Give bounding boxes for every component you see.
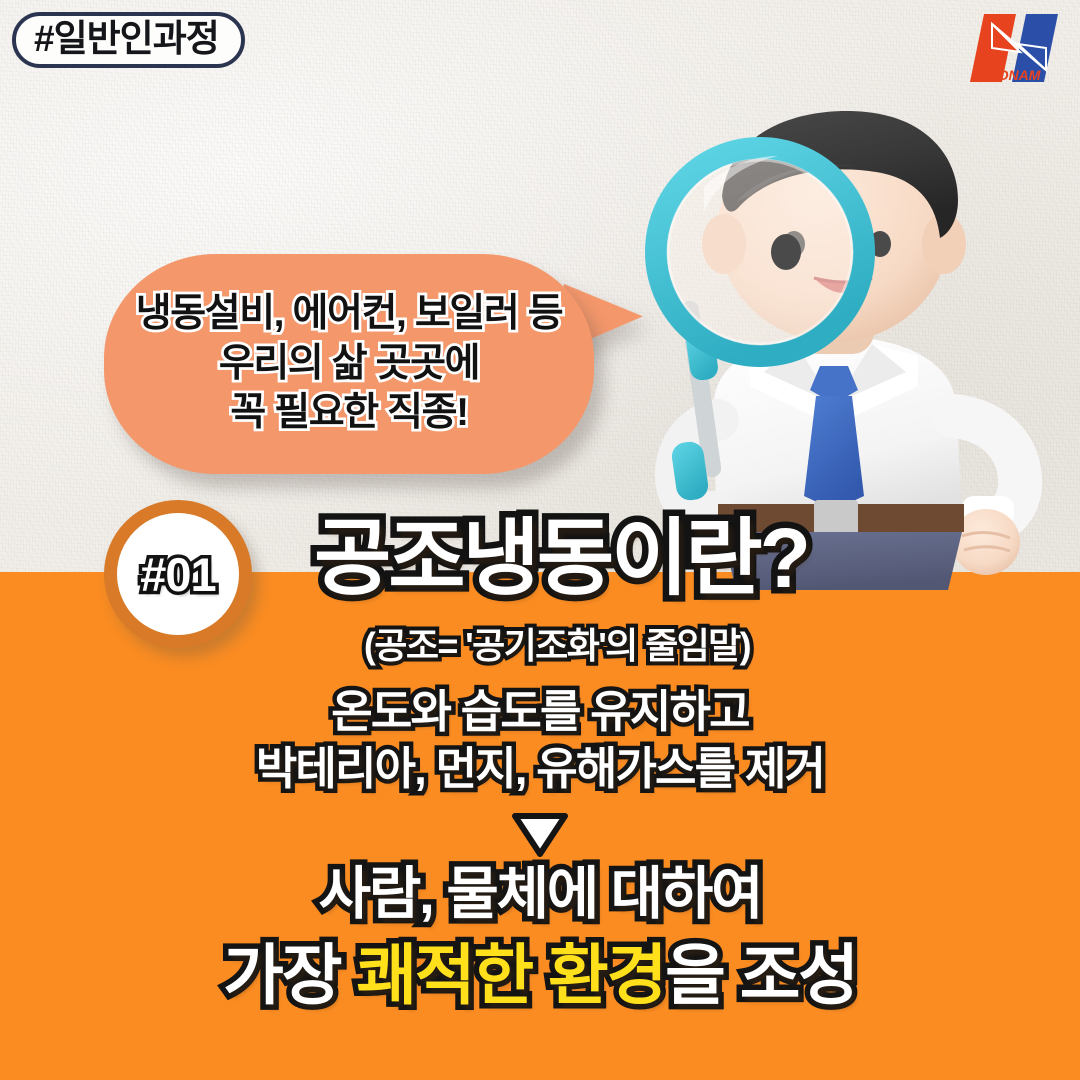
conclusion-line-2-highlight: 쾌적한 환경 xyxy=(356,938,665,1012)
speech-bubble-line-2: 우리의 삶 곳곳에 xyxy=(219,344,479,385)
triangle-down-icon xyxy=(511,812,569,858)
page-title-text: 공조냉동이란? xyxy=(314,511,808,605)
page-subtitle-text: (공조= '공기조화'의 줄임말) xyxy=(364,625,750,666)
definition-line-1: 온도와 습도를 유지하고 xyxy=(0,688,1080,737)
conclusion-block: 사람, 물체에 대하여 가장 쾌적한 환경을 조성 xyxy=(0,864,1080,1011)
speech-bubble-line-1: 냉동설비, 에어컨, 보일러 등 xyxy=(136,294,562,335)
course-tag-badge: #일반인과정 xyxy=(12,12,245,68)
course-tag-label: #일반인과정 xyxy=(34,20,219,57)
honam-logo: HONAM xyxy=(962,8,1066,96)
downward-arrow xyxy=(0,812,1080,858)
svg-text:HONAM: HONAM xyxy=(988,67,1041,83)
conclusion-line-2-prefix: 가장 xyxy=(223,938,356,1012)
page-subtitle: (공조= '공기조화'의 줄임말) xyxy=(0,617,1080,669)
infographic-poster: #일반인과정 HONAM xyxy=(0,0,1080,1080)
page-title: 공조냉동이란? xyxy=(0,516,1080,600)
honam-logo-icon: HONAM xyxy=(962,8,1066,96)
definition-line-2: 박테리아, 먼지, 유해가스를 제거 xyxy=(0,745,1080,794)
conclusion-line-2: 가장 쾌적한 환경을 조성 xyxy=(0,940,1080,1011)
definition-body: 온도와 습도를 유지하고 박테리아, 먼지, 유해가스를 제거 xyxy=(0,688,1080,793)
speech-bubble-line-3: 꼭 필요한 직종! xyxy=(230,393,467,434)
speech-bubble: 냉동설비, 에어컨, 보일러 등 우리의 삶 곳곳에 꼭 필요한 직종! xyxy=(104,254,594,474)
conclusion-line-1: 사람, 물체에 대하여 xyxy=(0,864,1080,926)
conclusion-line-2-suffix: 을 조성 xyxy=(665,938,857,1012)
